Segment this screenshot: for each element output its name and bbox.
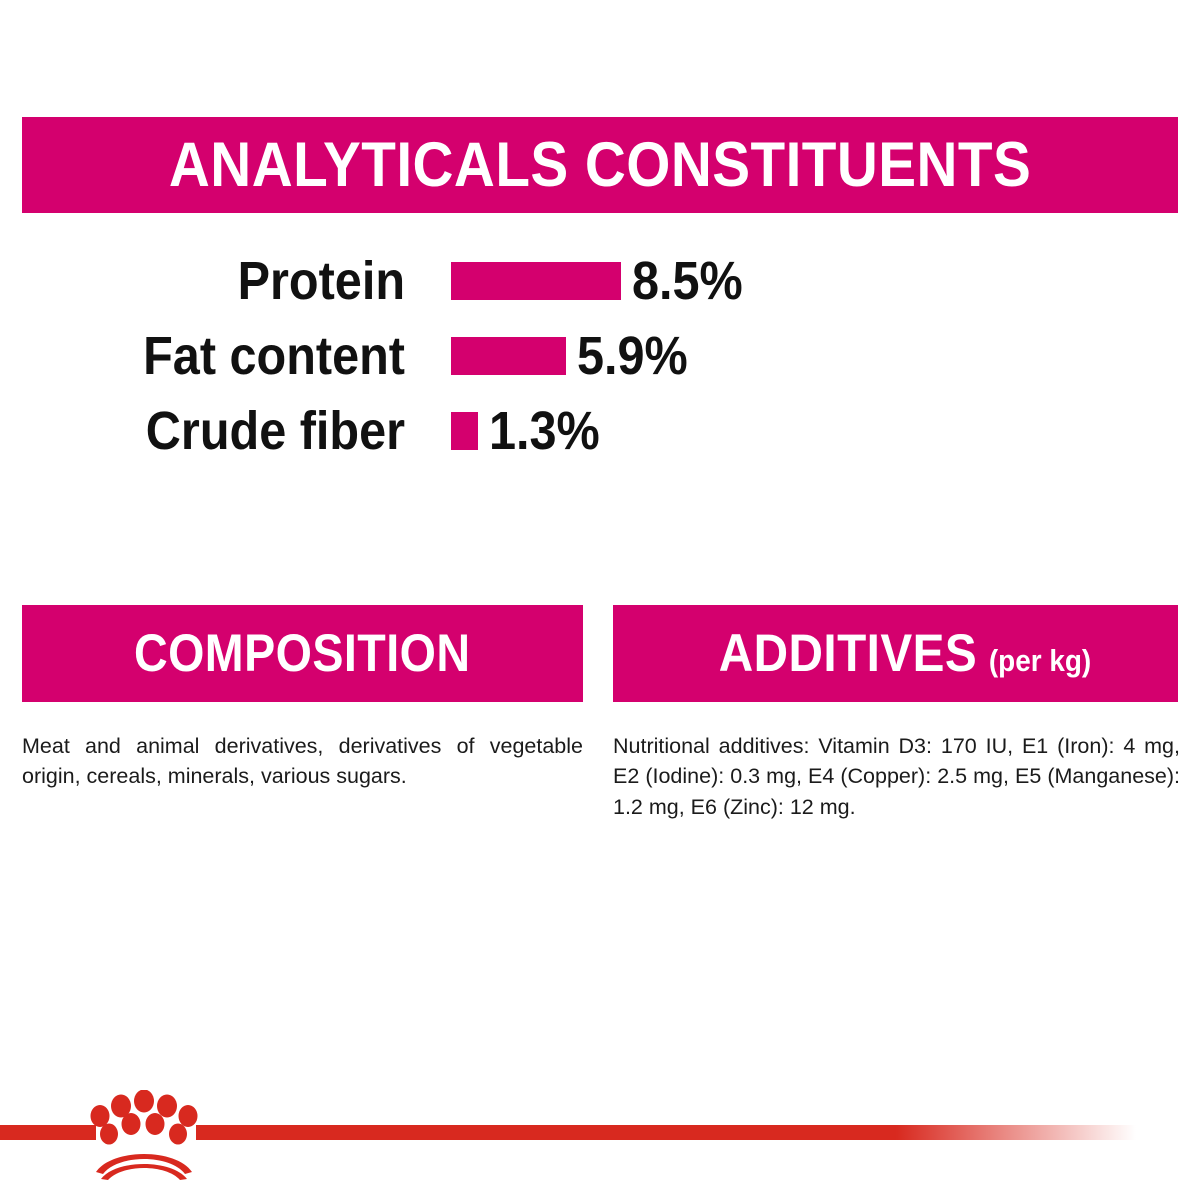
analyticals-constituents-banner: ANALYTICALS CONSTITUENTS bbox=[22, 117, 1178, 213]
constituent-row-crude-fiber: Crude fiber 1.3% bbox=[0, 393, 1200, 468]
constituent-bar-crude-fiber bbox=[451, 412, 478, 450]
constituent-bar-protein bbox=[451, 262, 621, 300]
constituent-row-fat-content: Fat content 5.9% bbox=[0, 318, 1200, 393]
constituent-label-fat-content: Fat content bbox=[143, 329, 405, 383]
footer bbox=[0, 1090, 1200, 1200]
constituent-value-crude-fiber: 1.3% bbox=[489, 404, 600, 458]
constituent-bar-fat-content bbox=[451, 337, 566, 375]
additives-subtitle-per-kg: (per kg) bbox=[988, 645, 1090, 676]
constituent-row-protein: Protein 8.5% bbox=[0, 243, 1200, 318]
composition-title: COMPOSITION bbox=[134, 627, 471, 680]
royal-canin-crown-icon bbox=[88, 1090, 200, 1180]
analyticals-constituents-title: ANALYTICALS CONSTITUENTS bbox=[169, 134, 1031, 197]
additives-title-group: ADDITIVES (per kg) bbox=[718, 627, 1091, 680]
footer-rule-right bbox=[196, 1125, 1136, 1140]
constituent-label-protein: Protein bbox=[238, 254, 405, 308]
additives-banner: ADDITIVES (per kg) bbox=[613, 605, 1178, 702]
additives-body-text: Nutritional additives: Vitamin D3: 170 I… bbox=[613, 731, 1180, 823]
additives-title: ADDITIVES bbox=[718, 627, 976, 680]
constituent-value-fat-content: 5.9% bbox=[577, 329, 688, 383]
composition-body-text: Meat and animal derivatives, derivatives… bbox=[22, 731, 583, 792]
constituent-value-protein: 8.5% bbox=[632, 254, 743, 308]
analyticals-constituents-chart: Protein 8.5% Fat content 5.9% Crude fibe… bbox=[0, 243, 1200, 468]
constituent-label-crude-fiber: Crude fiber bbox=[146, 404, 405, 458]
composition-banner: COMPOSITION bbox=[22, 605, 583, 702]
nutrition-label-page: ANALYTICALS CONSTITUENTS Protein 8.5% Fa… bbox=[0, 0, 1200, 1200]
footer-rule-left bbox=[0, 1125, 96, 1140]
